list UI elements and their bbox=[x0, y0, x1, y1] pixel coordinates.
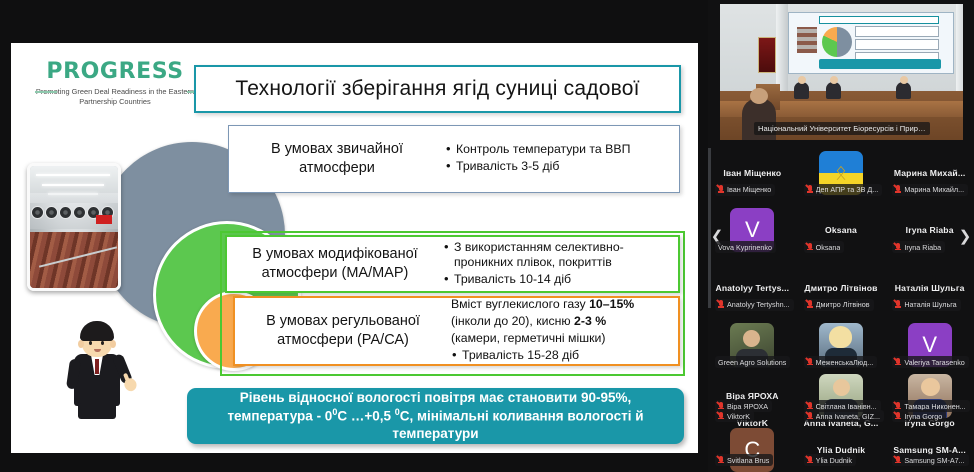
participant-name-badge: Valeriya Tarasenko bbox=[892, 356, 968, 368]
participant-badge-name: Samsung SM-A7... bbox=[904, 456, 964, 465]
microphone-muted-icon bbox=[807, 412, 813, 421]
participant-badge-name: Iryna Gorgo bbox=[904, 412, 942, 421]
participant-name-badge: Іван Міщенко bbox=[715, 184, 775, 196]
row-label: В умовах модифікованої атмосфери (МА/MAP… bbox=[227, 245, 443, 282]
condition-row-controlled-atmosphere: В умовах регульованої атмосфери (РА/СА) … bbox=[233, 296, 680, 366]
participant-name-badge: Svitlana Brus bbox=[715, 454, 773, 466]
participant-badge-name: Ylia Dudnik bbox=[816, 456, 852, 465]
participant-tile[interactable]: VVova Kyprinenko bbox=[708, 202, 797, 260]
participant-badge-name: Дмитро Літвінов bbox=[816, 300, 870, 309]
microphone-muted-icon bbox=[718, 412, 724, 421]
cold-storage-facility-photo bbox=[27, 163, 121, 291]
participant-tile[interactable]: Іван МіщенкоІван Міщенко bbox=[708, 144, 797, 202]
participant-tile[interactable]: Iryna RiabaIryna Riaba bbox=[885, 202, 974, 260]
conference-hall-video bbox=[720, 4, 963, 140]
participant-name-badge: Дмитро Літвінов bbox=[804, 299, 874, 311]
mini-slide-discs bbox=[822, 27, 852, 57]
participant-badge-name: Valeriya Tarasenko bbox=[904, 358, 964, 367]
participant-tile[interactable]: Наталія ШульгаНаталія Шульга bbox=[885, 259, 974, 317]
microphone-muted-icon bbox=[895, 412, 901, 421]
active-speaker-video[interactable]: Національний Університет Біоресурсів і П… bbox=[720, 4, 963, 140]
participant-name-badge: Samsung SM-A7... bbox=[892, 454, 968, 466]
trident-emblem-icon: ᛟ bbox=[835, 163, 847, 183]
participant-tile[interactable]: ViktorKViktorK bbox=[708, 418, 797, 428]
mini-slide-callout bbox=[819, 59, 941, 69]
participant-name-badge: Наталія Шульга bbox=[892, 299, 960, 311]
progress-logo: PROGRESS Promoting Green Deal Readiness … bbox=[35, 61, 195, 107]
mini-slide-row bbox=[855, 26, 939, 37]
logo-wordmark: PROGRESS bbox=[35, 61, 195, 83]
participant-badge-name: Іван Міщенко bbox=[727, 185, 771, 194]
mini-slide-row bbox=[855, 39, 939, 50]
participant-name-badge: Oksana bbox=[804, 241, 845, 253]
photo-fan bbox=[59, 206, 72, 219]
microphone-muted-icon bbox=[895, 358, 901, 367]
participant-tile[interactable]: Дмитро ЛітвіновДмитро Літвінов bbox=[797, 259, 886, 317]
participant-name-badge: Марина Михайл... bbox=[892, 184, 968, 196]
row-bullet: Тривалість 10-14 діб bbox=[443, 272, 670, 287]
meeting-window: PROGRESS Promoting Green Deal Readiness … bbox=[0, 0, 974, 472]
row-bullet: (інколи до 20), кисню 2-3 % bbox=[451, 314, 670, 329]
photo-lamp bbox=[36, 174, 110, 176]
slide-title: Технології зберігання ягід суниці садово… bbox=[194, 65, 681, 113]
row-label: В умовах звичайної атмосфери bbox=[229, 140, 445, 177]
participant-name-badge: Anna Ivaneta, GIZ... bbox=[804, 410, 884, 422]
row-bullets: Вміст вуглекислого газу 10–15% (інколи д… bbox=[451, 297, 678, 365]
callout-line-2c: С, мінімальні коливання вологості й bbox=[400, 408, 644, 423]
participant-badge-name: Vova Kyprinenko bbox=[718, 243, 772, 252]
participant-tile[interactable]: Марина Михай...Марина Михайл... bbox=[885, 144, 974, 202]
participant-tile[interactable]: Samsung SM-A...Samsung SM-A7... bbox=[885, 428, 974, 472]
participant-badge-name: Oksana bbox=[816, 243, 841, 252]
microphone-muted-icon bbox=[807, 185, 813, 194]
participant-display-name: Iryna Riaba bbox=[906, 225, 954, 235]
cartoon-presenter-icon bbox=[66, 321, 128, 419]
participant-name-badge: Ylia Dudnik bbox=[804, 454, 856, 466]
callout-line-3: температури bbox=[392, 426, 478, 441]
participant-name-badge: Iryna Riaba bbox=[892, 241, 945, 253]
participant-name-badge: МеженськаЛюд... bbox=[804, 356, 878, 368]
humidity-temperature-callout: Рівень відносної вологості повітря має с… bbox=[187, 388, 684, 444]
row-bullet: Тривалість 3-5 діб bbox=[445, 159, 671, 174]
photo-fan bbox=[45, 206, 58, 219]
participant-tile[interactable]: Ylia DudnikYlia Dudnik bbox=[797, 428, 886, 472]
condition-row-modified-atmosphere: В умовах модифікованої атмосфери (МА/MAP… bbox=[225, 235, 680, 293]
microphone-muted-icon bbox=[895, 456, 901, 465]
participant-name-badge: Iryna Gorgo bbox=[892, 410, 946, 422]
microphone-muted-icon bbox=[807, 243, 813, 252]
presenter-eye bbox=[101, 341, 104, 345]
row-label: В умовах регульованої атмосфери (РА/СА) bbox=[235, 312, 451, 349]
presentation-slide: PROGRESS Promoting Green Deal Readiness … bbox=[11, 43, 698, 453]
callout-line-2a: температура - 0 bbox=[227, 408, 332, 423]
microphone-muted-icon bbox=[718, 300, 724, 309]
participant-display-name: Наталія Шульга bbox=[895, 283, 965, 293]
participant-badge-name: Green Agro Solutions bbox=[718, 358, 786, 367]
participant-badge-name: Наталія Шульга bbox=[904, 300, 956, 309]
participant-name-badge: Деп АПР та ЗВ Д... bbox=[804, 184, 883, 196]
mini-slide-title bbox=[819, 16, 939, 24]
participant-tile[interactable]: OksanaOksana bbox=[797, 202, 886, 260]
microphone-muted-icon bbox=[807, 358, 813, 367]
participant-display-name: Дмитро Літвінов bbox=[804, 283, 877, 293]
participant-tile[interactable]: Anatolyy Tertys...Anatolyy Tertyshn... bbox=[708, 259, 797, 317]
participant-name-badge: Vova Kyprinenko bbox=[715, 241, 776, 253]
participant-tile[interactable]: VValeriya Tarasenko bbox=[885, 317, 974, 375]
participant-tile[interactable]: МеженськаЛюд... bbox=[797, 317, 886, 375]
participant-display-name: Oksana bbox=[825, 225, 857, 235]
hall-column bbox=[776, 4, 788, 94]
participant-name-badge: ViktorK bbox=[715, 410, 754, 422]
callout-line-2b: С …+0,5 bbox=[337, 408, 394, 423]
microphone-muted-icon bbox=[895, 243, 901, 252]
hall-flag bbox=[758, 37, 776, 73]
participant-display-name: Anatolyy Tertys... bbox=[715, 283, 789, 293]
row-bullet: Тривалість 15-28 діб bbox=[451, 348, 670, 363]
photo-fan bbox=[31, 206, 44, 219]
presenter-hair bbox=[80, 321, 114, 341]
hall-person bbox=[794, 82, 809, 99]
participant-panel: Національний Університет Біоресурсів і П… bbox=[708, 0, 974, 472]
participant-tile[interactable]: CSvitlana Brus bbox=[708, 428, 797, 472]
hall-column bbox=[956, 4, 963, 94]
participant-badge-name: Марина Михайл... bbox=[904, 185, 964, 194]
hall-person bbox=[896, 82, 911, 99]
participant-badge-name: ViktorK bbox=[727, 412, 750, 421]
participant-tile[interactable]: Iryna GorgoIryna Gorgo bbox=[885, 418, 974, 428]
presenter-ear bbox=[110, 340, 116, 348]
presenter-tie bbox=[95, 359, 99, 374]
microphone-muted-icon bbox=[807, 300, 813, 309]
participant-grid: Іван МіщенкоІван МіщенкоᛟДеп АПР та ЗВ Д… bbox=[708, 144, 974, 472]
callout-line-1: Рівень відносної вологості повітря має с… bbox=[240, 390, 632, 405]
hall-projection-screen bbox=[788, 12, 954, 74]
mini-slide-photo bbox=[797, 27, 817, 53]
microphone-muted-icon bbox=[895, 185, 901, 194]
row-bullets: З використанням селективно-проникних плі… bbox=[443, 240, 678, 289]
participant-tile[interactable]: ᛟДеп АПР та ЗВ Д... bbox=[797, 144, 886, 202]
row-bullet: Контроль температури та ВВП bbox=[445, 142, 671, 157]
participant-badge-name: Svitlana Brus bbox=[727, 456, 769, 465]
microphone-muted-icon bbox=[718, 456, 724, 465]
participant-tile[interactable]: Anna Ivaneta, G...Anna Ivaneta, GIZ... bbox=[797, 418, 886, 428]
photo-fan bbox=[73, 206, 86, 219]
participant-tile[interactable]: Green Agro Solutions bbox=[708, 317, 797, 375]
participant-display-name: Марина Михай... bbox=[894, 168, 966, 178]
participant-badge-name: МеженськаЛюд... bbox=[816, 358, 874, 367]
presenter-ear bbox=[78, 340, 84, 348]
photo-lamp bbox=[42, 184, 104, 186]
participant-badge-name: Anna Ivaneta, GIZ... bbox=[816, 412, 880, 421]
microphone-muted-icon bbox=[718, 185, 724, 194]
participant-badge-name: Iryna Riaba bbox=[904, 243, 941, 252]
microphone-muted-icon bbox=[807, 456, 813, 465]
row-bullets: Контроль температури та ВВП Тривалість 3… bbox=[445, 142, 679, 176]
slide-title-text: Технології зберігання ягід суниці садово… bbox=[235, 77, 639, 101]
participant-badge-name: Деп АПР та ЗВ Д... bbox=[816, 185, 879, 194]
participant-name-badge: Anatolyy Tertyshn... bbox=[715, 299, 794, 311]
active-speaker-name-label: Національний Університет Біоресурсів і П… bbox=[754, 122, 930, 135]
photo-produce-crates bbox=[30, 232, 118, 288]
row-bullet: Вміст вуглекислого газу 10–15% bbox=[451, 297, 670, 312]
row-bullet: З використанням селективно-проникних плі… bbox=[443, 240, 670, 270]
photo-red-marker bbox=[96, 215, 112, 224]
presenter-eye bbox=[89, 341, 92, 345]
condition-row-ordinary-atmosphere: В умовах звичайної атмосфери Контроль те… bbox=[228, 125, 680, 193]
participant-display-name: Іван Міщенко bbox=[723, 168, 781, 178]
hall-person bbox=[826, 82, 841, 99]
shared-screen-stage: PROGRESS Promoting Green Deal Readiness … bbox=[0, 0, 708, 472]
microphone-muted-icon bbox=[895, 300, 901, 309]
participant-name-badge: Green Agro Solutions bbox=[715, 356, 790, 368]
row-bullet: (камери, герметичні мішки) bbox=[451, 331, 670, 346]
participant-badge-name: Anatolyy Tertyshn... bbox=[727, 300, 790, 309]
presenter-legs bbox=[78, 403, 116, 419]
logo-tagline: Promoting Green Deal Readiness in the Ea… bbox=[35, 87, 195, 107]
logo-rule-left bbox=[35, 91, 57, 93]
